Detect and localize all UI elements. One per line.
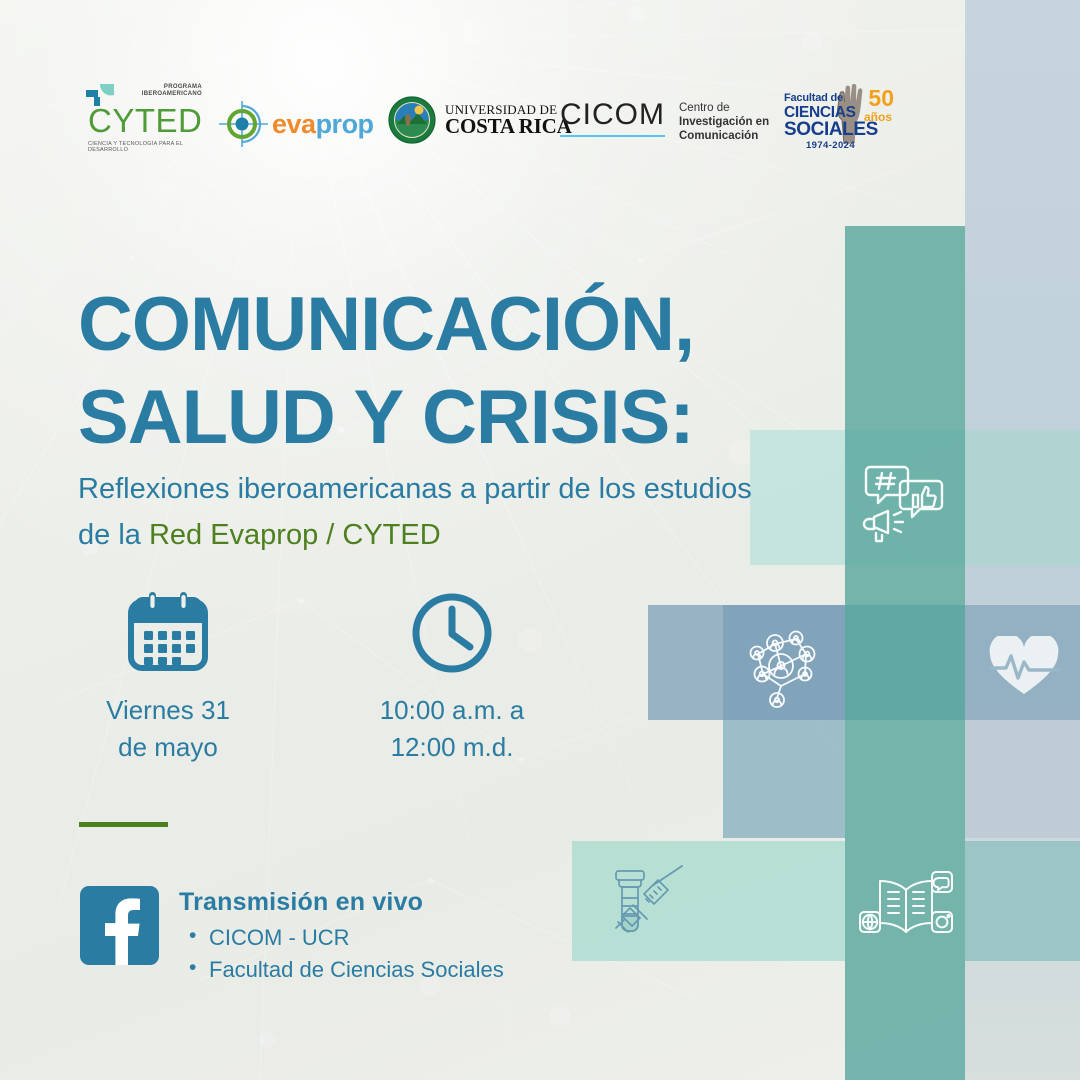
calendar-icon	[78, 592, 258, 674]
event-date: Viernes 31 de mayo	[78, 592, 258, 766]
green-divider	[79, 822, 168, 827]
social-media-icon	[860, 455, 952, 547]
logo-cyted: PROGRAMA IBEROAMERICANO CYTED CIENCIA Y …	[78, 84, 202, 150]
tile-blue-band	[648, 605, 1080, 720]
event-time: 10:00 a.m. a 12:00 m.d.	[362, 592, 542, 766]
vaccine-syringe-icon	[600, 858, 696, 946]
event-meta: Viernes 31 de mayo 10:00 a.m. a 12:00 m.…	[78, 592, 542, 766]
poster: PROGRAMA IBEROAMERICANO CYTED CIENCIA Y …	[0, 0, 1080, 1080]
event-date-text: Viernes 31 de mayo	[78, 692, 258, 766]
live-channel-list: CICOM - UCR Facultad de Ciencias Sociale…	[179, 922, 504, 986]
evaprop-target-icon	[216, 100, 268, 148]
ucr-seal-icon	[388, 96, 436, 144]
evaprop-wordmark: evaprop	[272, 109, 374, 140]
people-network-icon	[733, 622, 829, 718]
cyted-tagline: CIENCIA Y TECNOLOGÍA PARA EL DESARROLLO	[88, 141, 202, 153]
list-item: CICOM - UCR	[209, 922, 504, 954]
cicom-fullname: Centro de Investigación en Comunicación	[679, 99, 769, 143]
fcs-years: 1974-2024	[806, 140, 855, 151]
title-line-2: SALUD Y CRISIS:	[78, 372, 818, 465]
open-book-media-icon	[858, 868, 954, 948]
tile-blue-right-lower	[965, 720, 1080, 838]
event-time-text: 10:00 a.m. a 12:00 m.d.	[362, 692, 542, 766]
subtitle: Reflexiones iberoamericanas a partir de …	[78, 467, 758, 559]
tile-blue-stub	[723, 720, 845, 838]
logo-cicom: CICOM Centro de Investigación en Comunic…	[560, 99, 769, 143]
logo-ucr: UNIVERSIDAD DE COSTA RICA	[388, 96, 572, 144]
event-date-line2: de mayo	[78, 729, 258, 766]
subtitle-highlight: Red Evaprop / CYTED	[149, 519, 441, 551]
heart-pulse-icon	[988, 636, 1060, 698]
cyted-program-label: PROGRAMA IBEROAMERICANO	[142, 84, 202, 98]
fcs-anniversary-number: 50	[868, 88, 894, 108]
tile-teal-column	[845, 226, 965, 1080]
list-item: Facultad de Ciencias Sociales	[209, 954, 504, 986]
live-stream-title: Transmisión en vivo	[179, 888, 504, 917]
tile-vaccine-band	[572, 841, 845, 961]
event-time-line1: 10:00 a.m. a	[362, 692, 542, 729]
cicom-acronym: CICOM	[560, 99, 665, 137]
tile-blue-band-dark	[723, 605, 965, 720]
tile-pale-teal-upper-right	[965, 430, 1080, 565]
ucr-wordmark: UNIVERSIDAD DE COSTA RICA	[445, 103, 572, 138]
facebook-icon[interactable]	[80, 886, 159, 965]
title-line-1: COMUNICACIÓN,	[78, 282, 694, 367]
logo-facultad-ciencias-sociales: Facultad de CIENCIAS SOCIALES 1974-2024 …	[784, 88, 892, 152]
page-title: COMUNICACIÓN, SALUD Y CRISIS:	[78, 279, 818, 464]
tile-right-blue	[965, 0, 1080, 1080]
event-date-line1: Viernes 31	[78, 692, 258, 729]
live-stream-block: Transmisión en vivo CICOM - UCR Facultad…	[80, 886, 504, 986]
event-time-line2: 12:00 m.d.	[362, 729, 542, 766]
fcs-anniversary-word: años	[864, 110, 892, 124]
logo-evaprop: evaprop	[216, 100, 374, 148]
clock-icon	[362, 592, 542, 674]
live-stream-body: Transmisión en vivo CICOM - UCR Facultad…	[179, 886, 504, 986]
tile-teal-lower-right	[965, 841, 1080, 961]
cyted-wordmark: CYTED	[88, 104, 202, 138]
fcs-line1: Facultad de	[784, 92, 843, 104]
